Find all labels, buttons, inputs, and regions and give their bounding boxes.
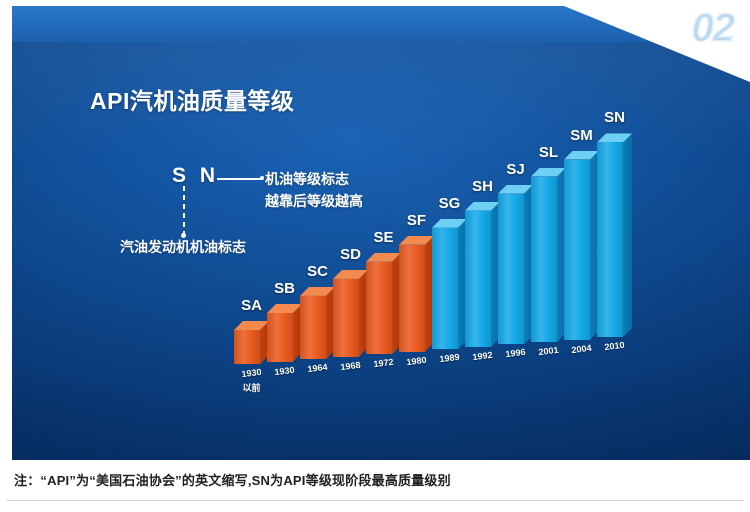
bar-side-face [623, 133, 632, 337]
footer-divider [6, 500, 744, 501]
footer-note: 注：“API”为“美国石油协会”的英文缩写,SN为API等级现阶段最高质量级别 [14, 470, 451, 489]
bar-column: SN2010 [12, 6, 750, 460]
bar-front-face [597, 142, 623, 337]
section-number-badge: 02 [692, 8, 735, 48]
bar-grade-label: SN [585, 109, 644, 126]
slide-panel: 02 API汽机油质量等级 S N 机油等级标志 越靠后等级越高 汽油发动机机油… [12, 6, 750, 460]
api-grade-bar-chart: SA1930以前SB1930SC1964SD1968SE1972SF1980SG… [12, 6, 750, 460]
bar-year-label: 2010 [591, 338, 639, 354]
